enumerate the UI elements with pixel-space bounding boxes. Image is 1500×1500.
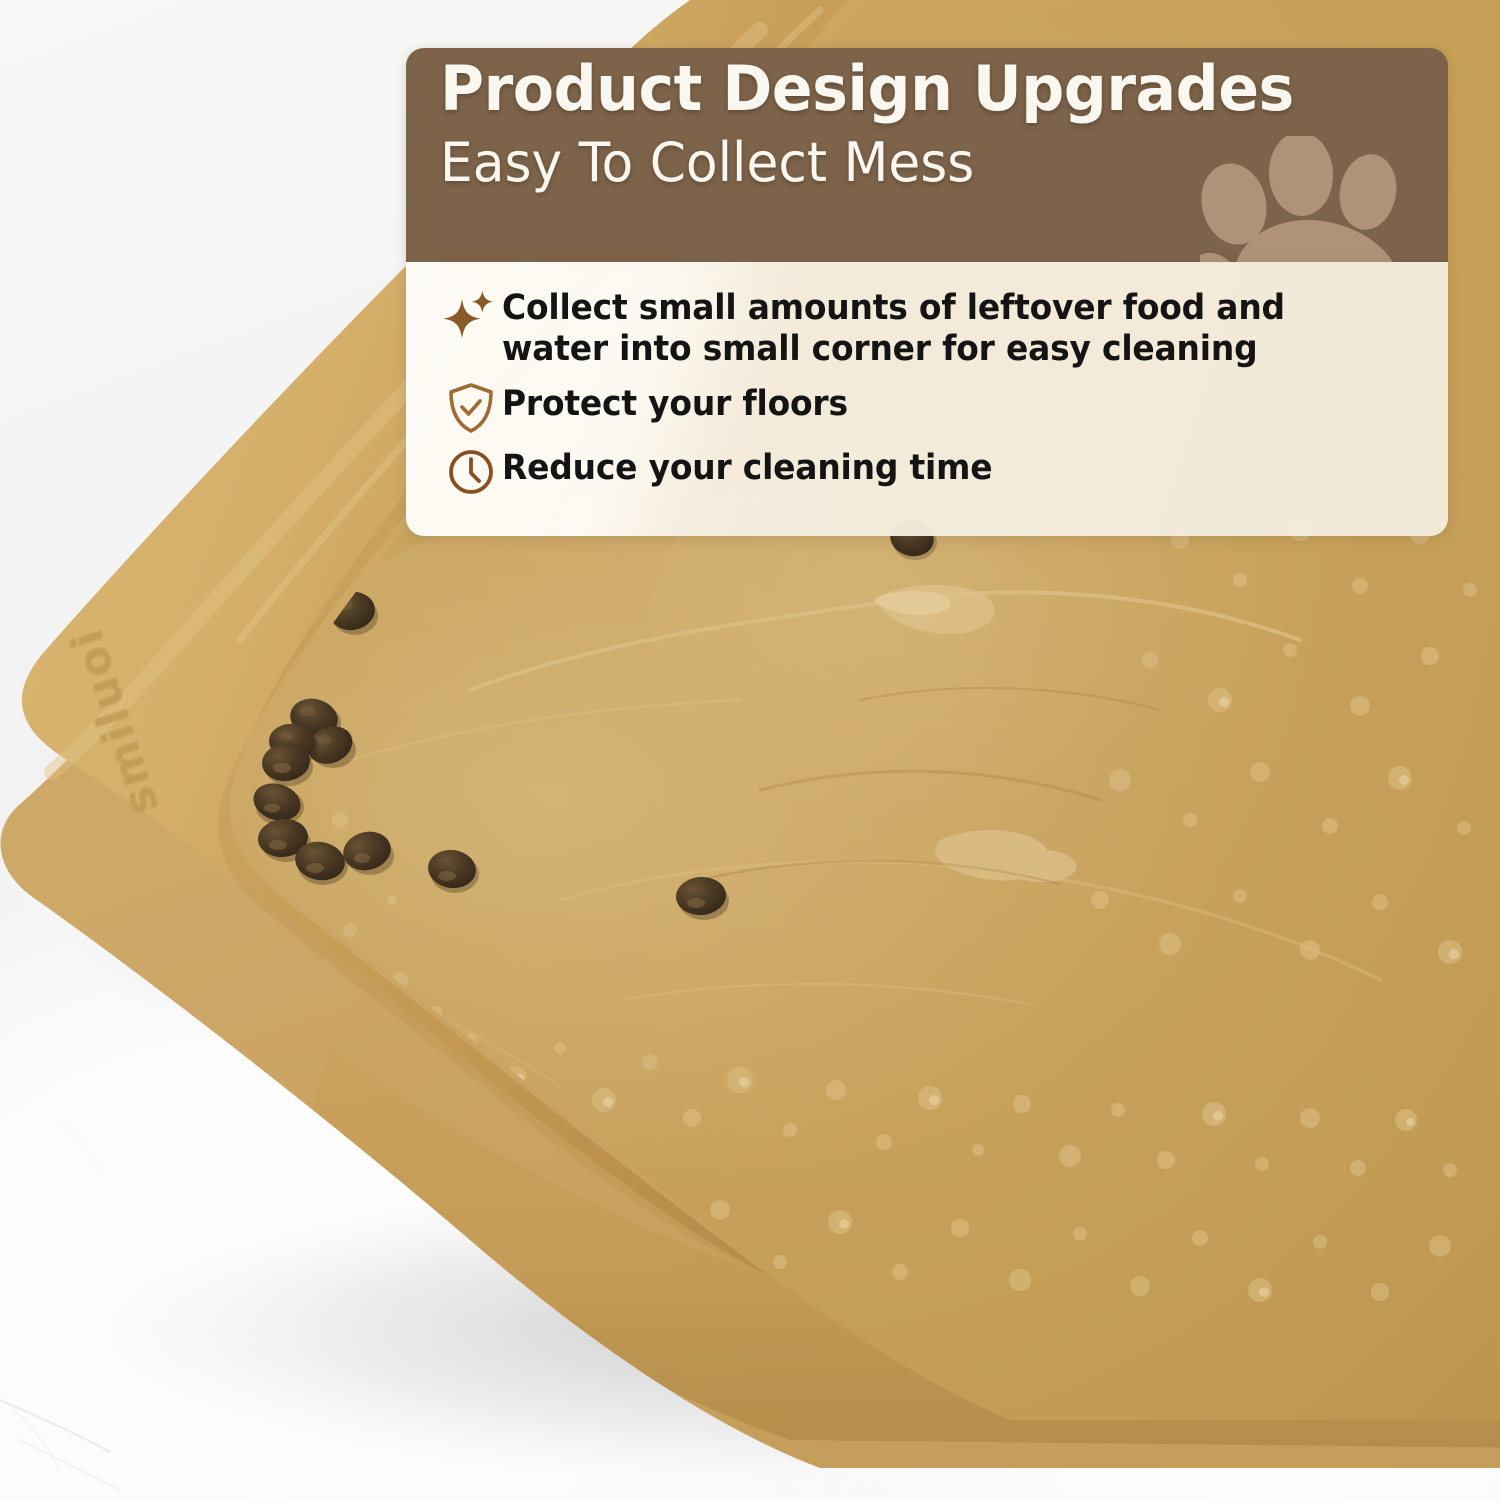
shield-check-icon	[440, 382, 502, 434]
clock-icon	[440, 446, 502, 498]
list-item-label: Collect small amounts of leftover food a…	[502, 288, 1285, 370]
list-item-label: Reduce your cleaning time	[502, 448, 992, 489]
banner-text-block: Product Design Upgrades Easy To Collect …	[406, 48, 1448, 193]
page-title: Product Design Upgrades	[440, 54, 1418, 123]
header-banner: Product Design Upgrades Easy To Collect …	[406, 48, 1448, 262]
product-listing-image: smiluoi smiluoi	[0, 0, 1500, 1500]
list-item: Protect your floors	[440, 384, 1418, 434]
list-item-label: Protect your floors	[502, 384, 848, 425]
sparkle-icon	[440, 290, 502, 342]
page-subtitle: Easy To Collect Mess	[440, 133, 1408, 192]
feature-bullet-list: Collect small amounts of leftover food a…	[406, 262, 1448, 498]
list-item: Collect small amounts of leftover food a…	[440, 288, 1418, 370]
feature-panel: Collect small amounts of leftover food a…	[406, 262, 1448, 536]
list-item: Reduce your cleaning time	[440, 448, 1418, 498]
